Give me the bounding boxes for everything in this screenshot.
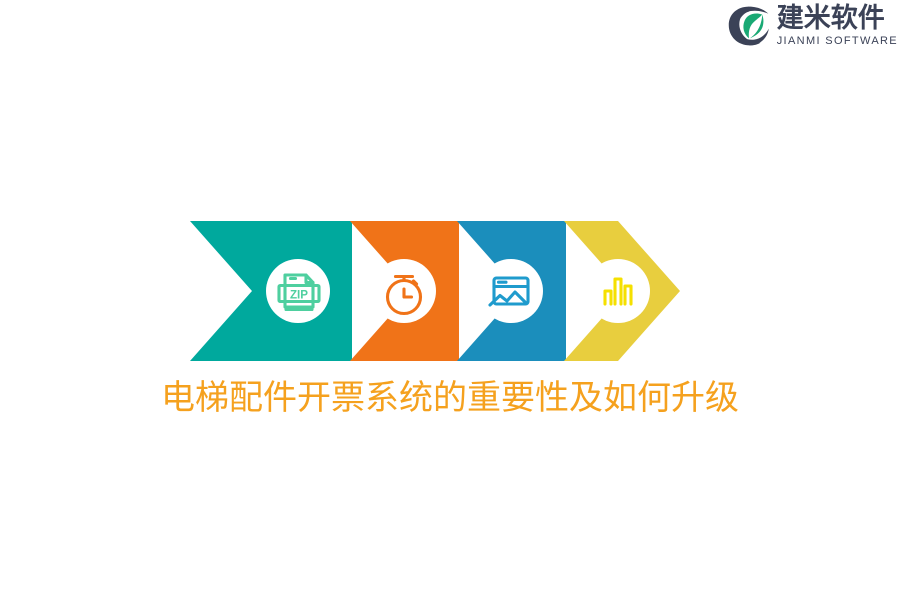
chevron-segment-2[interactable] [350,221,459,361]
chevron-banner: ZIP [182,221,682,361]
jianmi-leaf-logo-icon [727,4,771,48]
chevron-segment-1[interactable]: ZIP [190,221,352,361]
chevron-segment-4[interactable] [564,221,680,361]
zip-icon-label: ZIP [290,289,308,302]
brand-wordmark: 建米软件 JIANMI SOFTWARE [777,4,898,48]
chevron-segment-3[interactable] [457,221,566,361]
icon-badge-3 [479,259,543,323]
brand-name-cn: 建米软件 [777,5,885,33]
brand-name-en: JIANMI SOFTWARE [777,34,898,48]
brand-logo-block[interactable]: 建米软件 JIANMI SOFTWARE [727,0,900,52]
page-title: 电梯配件开票系统的重要性及如何升级 [0,374,900,422]
icon-badge-4 [586,259,650,323]
